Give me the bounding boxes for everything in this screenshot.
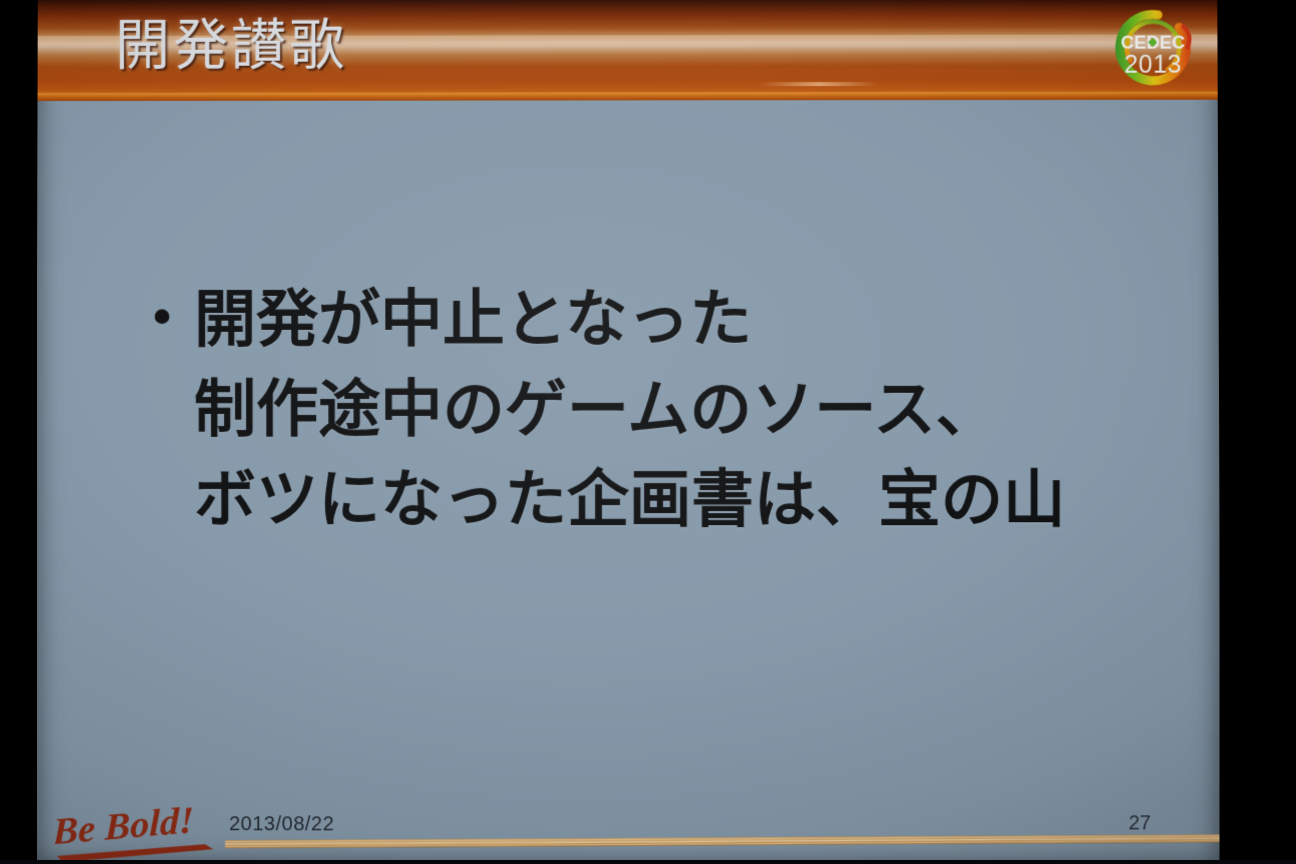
- slide-title-banner: 開発讃歌: [37, 0, 1220, 101]
- presentation-slide: 開発讃歌: [37, 0, 1220, 864]
- svg-text:2013: 2013: [1124, 51, 1182, 79]
- body-line-3: ボツになった企画書は、宝の山: [194, 456, 1196, 546]
- be-bold-logo: Be Bold!: [55, 802, 233, 864]
- page-title: 開発讃歌: [115, 14, 347, 76]
- screen-edge-bottom: [0, 860, 1296, 864]
- footer-date: 2013/08/22: [229, 813, 334, 836]
- bullet-item: ・ 開発が中止となった 制作途中のゲームのソース、 ボツになった企画書は、宝の山: [132, 275, 1196, 546]
- bullet-marker: ・: [132, 276, 192, 364]
- body-line-1: 開発が中止となった: [194, 275, 1196, 366]
- projected-slide-photo: 開発讃歌: [0, 0, 1296, 864]
- slide-footer: Be Bold! 2013/08/22 27: [37, 780, 1220, 864]
- banner-specular-dash: [759, 82, 880, 86]
- slide-page-number: 27: [1129, 812, 1151, 835]
- screen-edge-left: [0, 0, 42, 864]
- banner-bottom-strip: [37, 92, 1220, 101]
- cedec-2013-logo: CEDEC 2013: [1105, 0, 1202, 96]
- footer-divider-rule: [225, 834, 1219, 848]
- slide-body: ・ 開発が中止となった 制作途中のゲームのソース、 ボツになった企画書は、宝の山: [132, 275, 1196, 546]
- body-line-2: 制作途中のゲームのソース、: [194, 366, 1196, 456]
- svg-text:Be Bold!: Be Bold!: [55, 802, 194, 853]
- bullet-text-lines: 開発が中止となった 制作途中のゲームのソース、 ボツになった企画書は、宝の山: [194, 275, 1196, 546]
